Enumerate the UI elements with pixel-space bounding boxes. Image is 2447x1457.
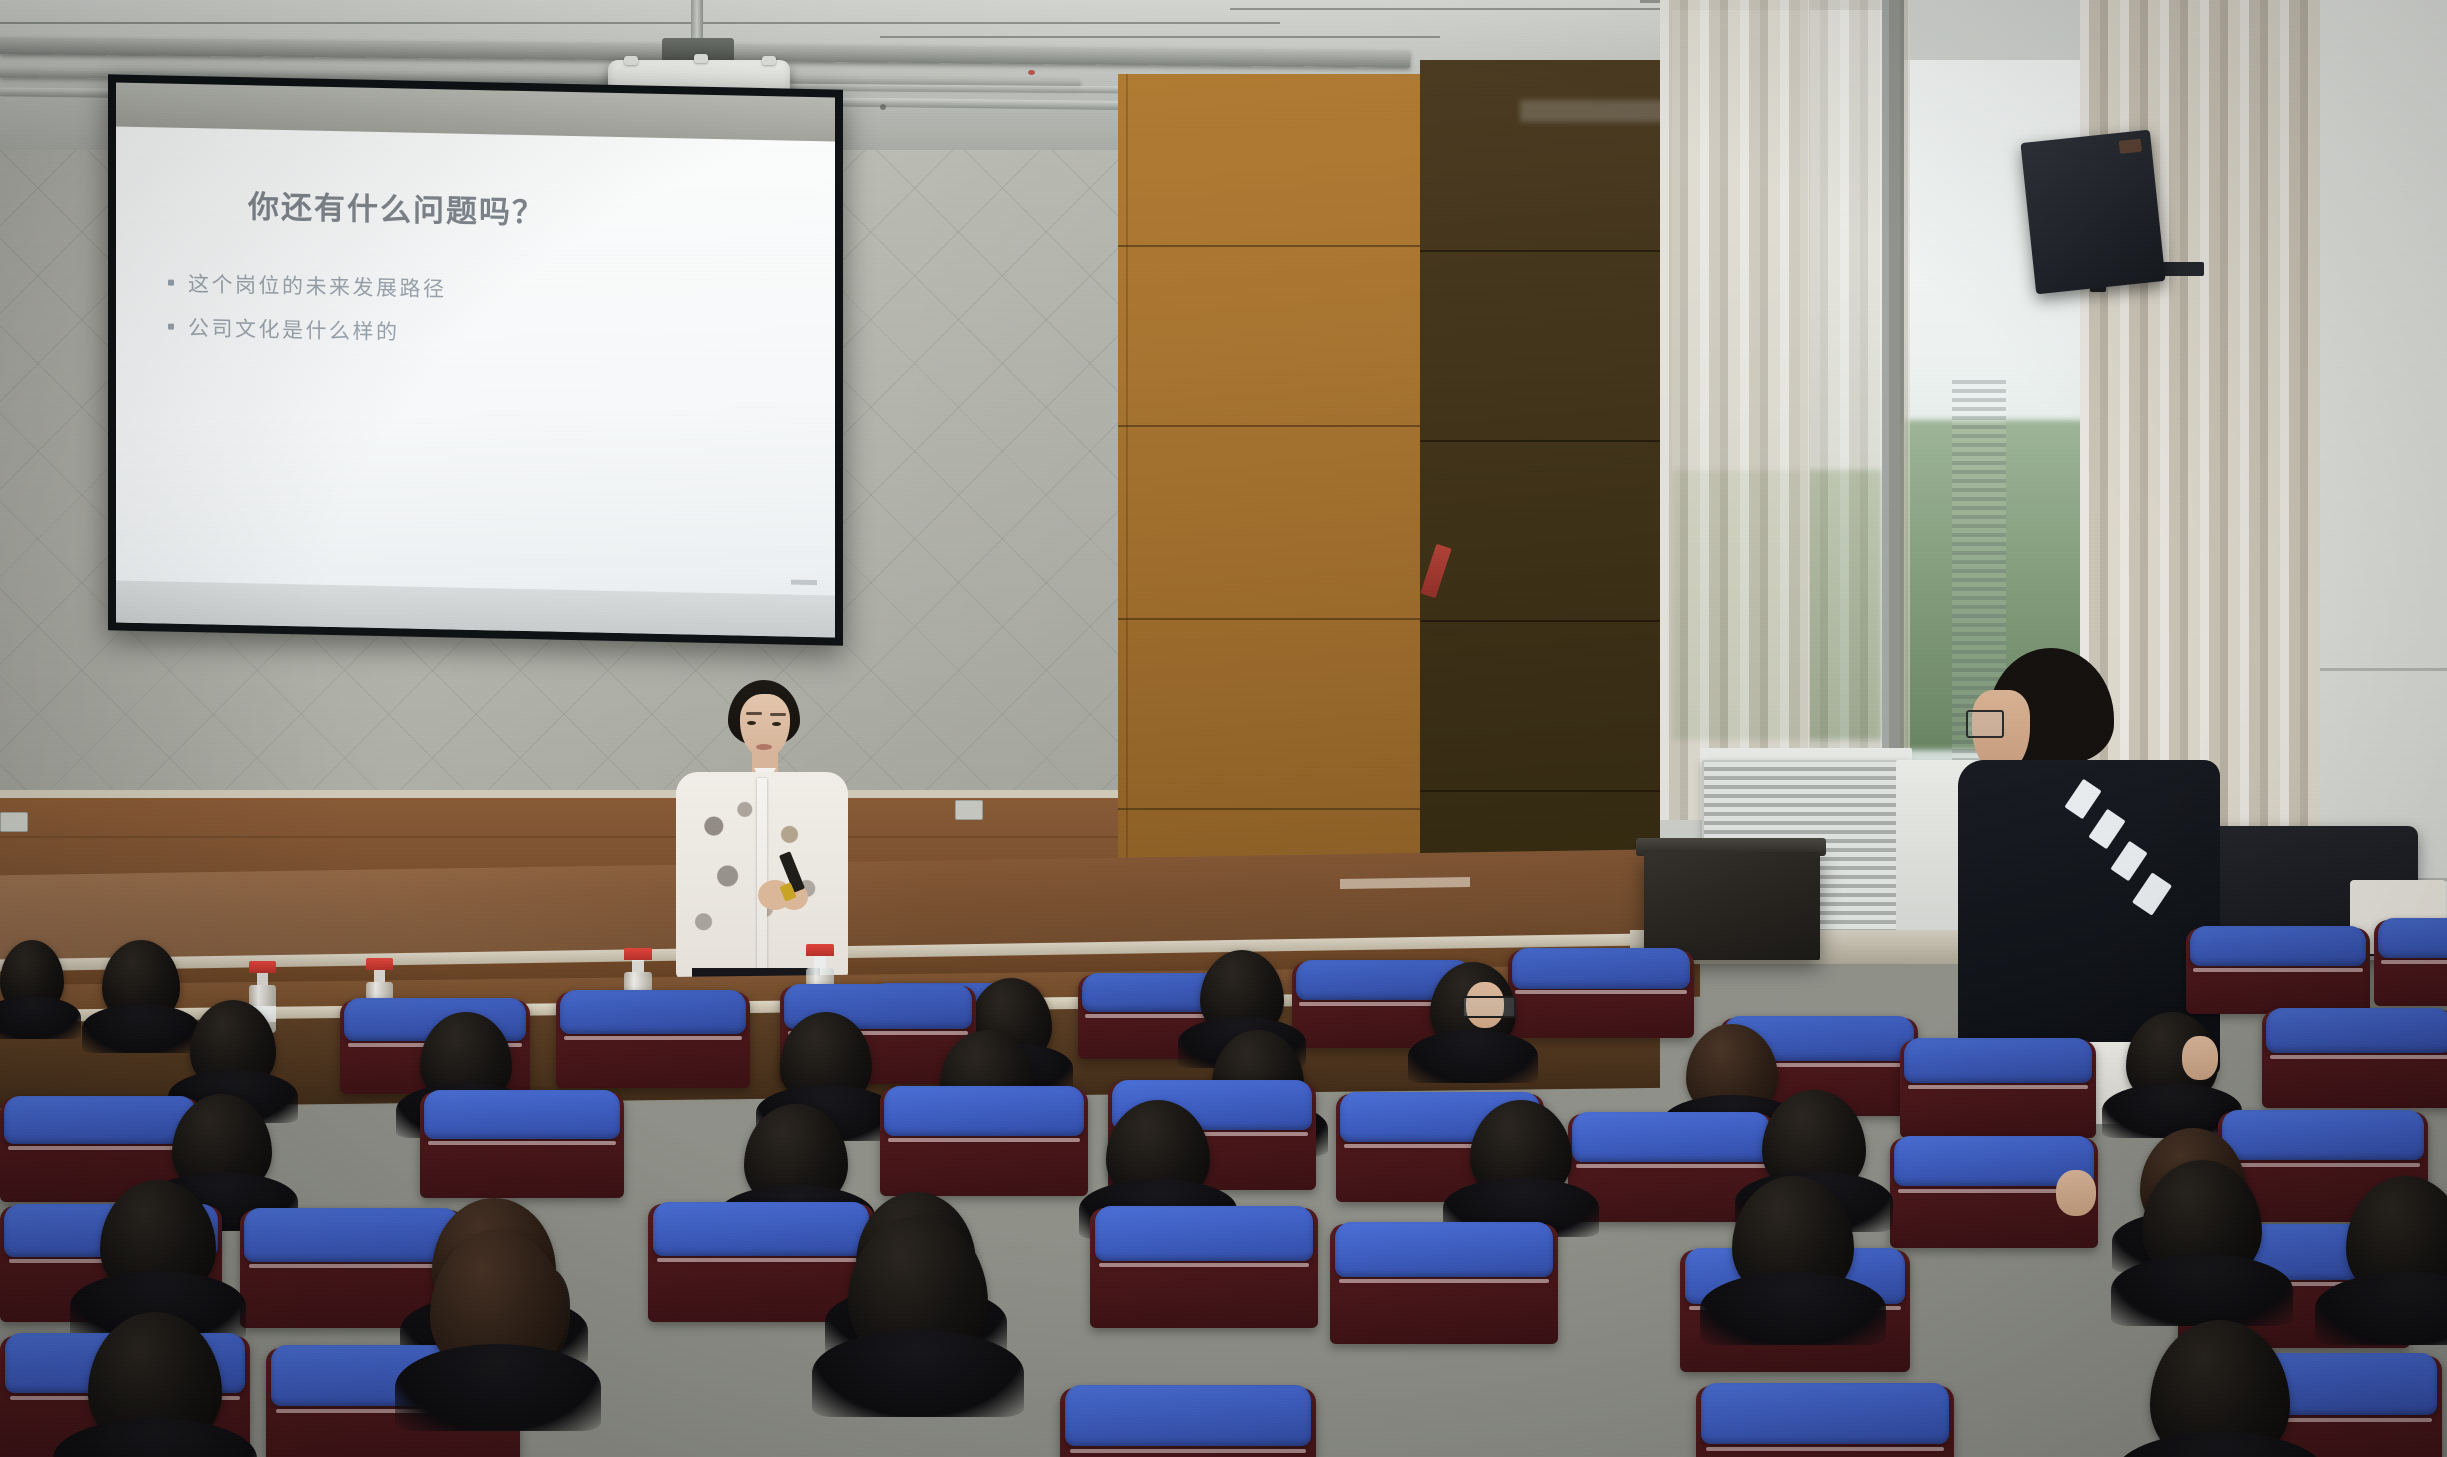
seat-cushion (2266, 1008, 2447, 1053)
audience-face (2182, 1036, 2218, 1080)
seat-piping (1908, 1085, 2088, 1089)
alcove-seam (1420, 250, 1660, 252)
auditorium-seat[interactable] (1060, 1388, 1316, 1457)
seat-cushion (1572, 1112, 1770, 1162)
presenter-shirt-placket (757, 778, 767, 974)
projector-foot (624, 56, 638, 65)
presenter-eyebrow (746, 712, 762, 715)
slide-title: 你还有什么问题吗？ (248, 181, 545, 232)
slide-bullet-text: 公司文化是什么样的 (188, 312, 400, 346)
seat-piping (1706, 1447, 1943, 1451)
presenter-eye (747, 721, 756, 725)
seat-cushion (884, 1086, 1084, 1136)
slide-bullet-item: 公司文化是什么样的 (168, 312, 447, 348)
alcove-seam (1420, 620, 1660, 622)
audience-face (2056, 1170, 2096, 1216)
bottle-neck (257, 973, 269, 985)
seat-cushion (653, 1202, 870, 1256)
seat-cushion (244, 1208, 459, 1262)
presenter-mouth (756, 744, 772, 750)
projector-foot (694, 54, 708, 63)
seat-cushion (1335, 1222, 1554, 1277)
eyeglasses-icon (1462, 996, 1516, 1018)
auditorium-seat[interactable] (1508, 950, 1694, 1038)
indicator-led (1028, 70, 1035, 75)
seat-piping (1070, 1449, 1306, 1453)
seat-cushion (1095, 1206, 1314, 1261)
seat-piping (1099, 1263, 1309, 1267)
seat-piping (657, 1258, 865, 1262)
auditorium-seat[interactable] (2186, 928, 2370, 1014)
side-wall-seam (2320, 668, 2447, 671)
seat-piping (249, 1264, 455, 1268)
auditorium-seat[interactable] (1090, 1208, 1318, 1328)
seat-cushion (1512, 948, 1691, 988)
projector-foot (762, 56, 776, 65)
seat-piping (2381, 960, 2447, 964)
bullet-dot-icon (168, 324, 174, 330)
wall-outlet (955, 800, 983, 820)
seat-piping (564, 1036, 742, 1040)
seat-cushion (1904, 1038, 2092, 1083)
seat-piping (888, 1138, 1079, 1142)
auditorium-seat[interactable] (420, 1092, 624, 1198)
seat-cushion (2190, 926, 2367, 966)
seat-piping (8, 1146, 192, 1150)
auditorium-seat[interactable] (556, 992, 750, 1088)
screen-bottom-band (116, 580, 835, 637)
track-light (880, 104, 886, 110)
wainscot-cap (0, 790, 1128, 798)
bottle-neck (814, 956, 826, 968)
lecture-hall-photo: EPSON (0, 0, 2447, 1457)
speaker-logo-badge (2119, 139, 2142, 154)
seat-cushion (560, 990, 746, 1034)
projector-mount-rod (691, 0, 703, 42)
alcove-seam (1420, 440, 1660, 442)
audience-head (1470, 1100, 1572, 1202)
side-wall (2320, 0, 2447, 960)
seat-cushion (2222, 1110, 2424, 1161)
wall-outlet (0, 812, 28, 832)
presenter-eye (772, 722, 781, 726)
ceiling-seam (0, 22, 1280, 24)
wall-speaker (2020, 130, 2165, 295)
slide-bullet-item: 这个岗位的未来发展路径 (168, 268, 447, 304)
alcove-seam (1420, 790, 1660, 792)
slide-bullet-list: 这个岗位的未来发展路径 公司文化是什么样的 (168, 268, 447, 362)
window-curtain (1660, 0, 1810, 820)
auditorium-seat[interactable] (880, 1088, 1088, 1196)
auditorium-seat[interactable] (1900, 1040, 2096, 1138)
bottle-cap (624, 948, 652, 960)
bottle-neck (374, 970, 386, 982)
auditorium-seat[interactable] (1696, 1386, 1954, 1457)
wall-alcove (1420, 60, 1660, 910)
slide-bullet-text: 这个岗位的未来发展路径 (188, 268, 447, 303)
wood-panel-seam (1126, 74, 1128, 904)
seat-cushion (1701, 1383, 1949, 1444)
seat-piping (2270, 1055, 2447, 1059)
bottle-cap (806, 944, 834, 956)
seat-cushion (2378, 918, 2447, 958)
seat-cushion (4, 1096, 196, 1144)
eyeglasses-icon (1966, 710, 2004, 738)
seat-cushion (1065, 1385, 1311, 1446)
auditorium-seat[interactable] (1330, 1224, 1558, 1344)
seat-piping (2226, 1163, 2419, 1167)
bottle-cap (249, 961, 276, 973)
seat-piping (2193, 968, 2362, 972)
seat-piping (1576, 1164, 1766, 1168)
presenter-eyebrow (770, 713, 786, 716)
seat-piping (1339, 1279, 1549, 1283)
bottle-neck (632, 960, 644, 972)
projection-screen: 你还有什么问题吗？ 这个岗位的未来发展路径 公司文化是什么样的 (116, 126, 835, 637)
wainscot-seam (0, 836, 1128, 838)
stage-step-highlight (1340, 877, 1470, 889)
seat-piping (428, 1141, 616, 1145)
projection-screen-frame: 你还有什么问题吗？ 这个岗位的未来发展路径 公司文化是什么样的 (108, 74, 843, 645)
auditorium-seat[interactable] (2262, 1010, 2447, 1108)
ceiling-seam (880, 36, 1440, 38)
bottle-cap (366, 958, 393, 970)
bullet-dot-icon (168, 280, 174, 286)
podium (1644, 852, 1820, 960)
seat-cushion (424, 1090, 620, 1139)
slide-footer-mark (791, 580, 817, 586)
auditorium-seat[interactable] (2374, 920, 2447, 1006)
seat-piping (1515, 990, 1686, 994)
